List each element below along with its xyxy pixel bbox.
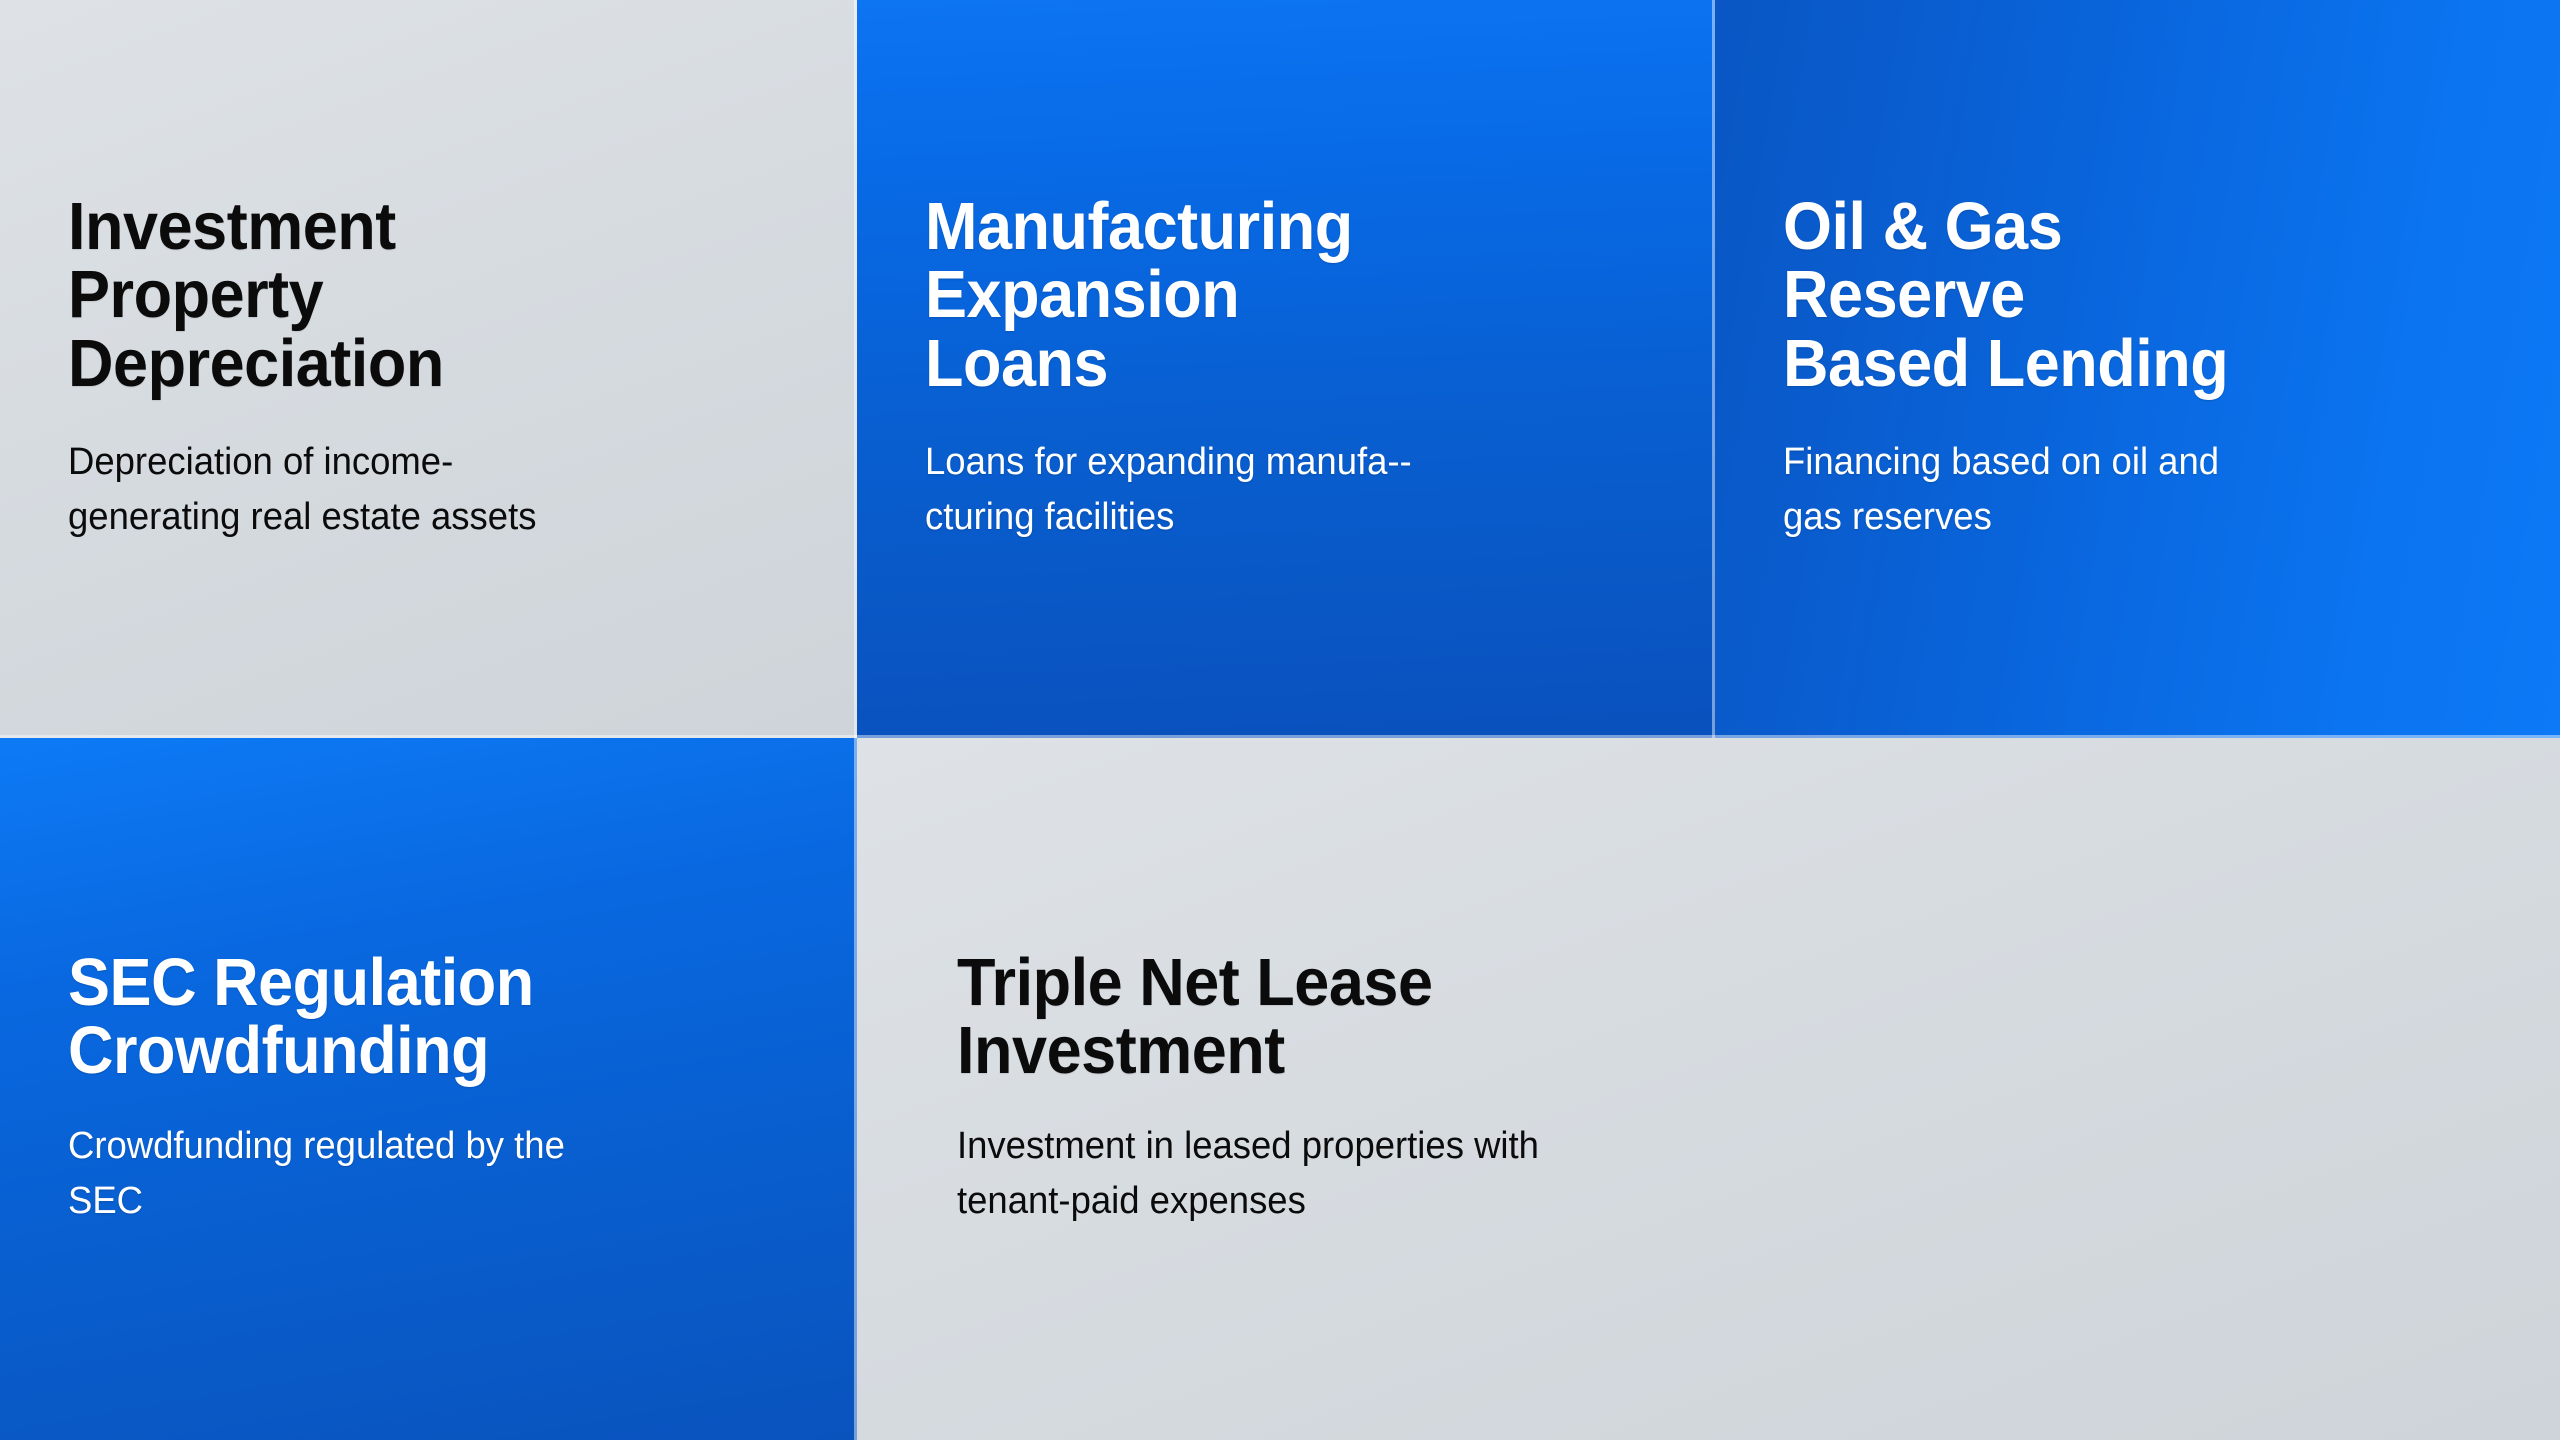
spacer bbox=[957, 1087, 2520, 1119]
card-description: Investment in leased properties with ten… bbox=[957, 1119, 2457, 1229]
card-triple-net-lease-investment[interactable]: Triple Net Lease Investment Investment i… bbox=[857, 738, 2560, 1440]
card-content: Oil & Gas Reserve Based Lending Financin… bbox=[1715, 193, 2560, 545]
card-title: Investment Property Depreciation bbox=[68, 193, 772, 398]
card-description: Crowdfunding regulated by the SEC bbox=[68, 1119, 787, 1229]
card-title: Oil & Gas Reserve Based Lending bbox=[1783, 193, 2476, 398]
spacer bbox=[68, 399, 817, 435]
spacer bbox=[68, 1087, 817, 1119]
card-oil-and-gas-reserve-based-lending[interactable]: Oil & Gas Reserve Based Lending Financin… bbox=[1715, 0, 2560, 738]
card-content: Manufacturing Expansion Loans Loans for … bbox=[857, 193, 1715, 545]
card-title: SEC Regulation Crowdfunding bbox=[68, 949, 772, 1086]
card-description: Financing based on oil and gas reserves bbox=[1783, 435, 2491, 545]
card-description: Loans for expanding manufa-- cturing fac… bbox=[925, 435, 1645, 545]
card-content: Investment Property Depreciation Depreci… bbox=[0, 193, 857, 545]
card-title: Manufacturing Expansion Loans bbox=[925, 193, 1630, 398]
spacer bbox=[1783, 399, 2520, 435]
card-manufacturing-expansion-loans[interactable]: Manufacturing Expansion Loans Loans for … bbox=[857, 0, 1715, 738]
card-investment-property-depreciation[interactable]: Investment Property Depreciation Depreci… bbox=[0, 0, 857, 738]
card-content: SEC Regulation Crowdfunding Crowdfunding… bbox=[0, 949, 857, 1229]
card-sec-regulation-crowdfunding[interactable]: SEC Regulation Crowdfunding Crowdfunding… bbox=[0, 738, 857, 1440]
card-grid: Investment Property Depreciation Depreci… bbox=[0, 0, 2560, 1440]
card-description: Depreciation of income- generating real … bbox=[68, 435, 787, 545]
card-content: Triple Net Lease Investment Investment i… bbox=[857, 949, 2560, 1229]
spacer bbox=[925, 399, 1675, 435]
card-title: Triple Net Lease Investment bbox=[957, 949, 2426, 1086]
